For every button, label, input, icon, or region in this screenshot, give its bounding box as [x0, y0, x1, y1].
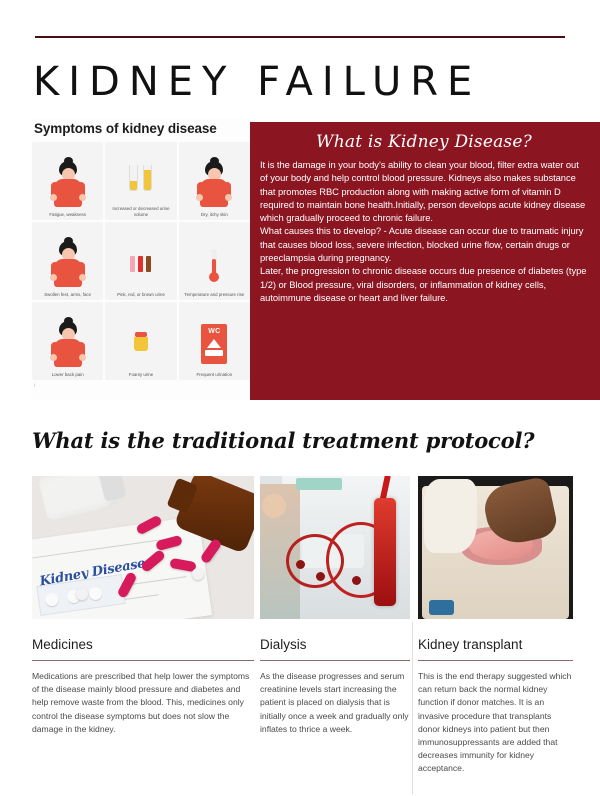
column-rule — [418, 660, 573, 661]
column-rule — [32, 660, 254, 661]
symptom-caption: Fatigue, weakness — [33, 212, 101, 218]
info-paragraph: It is the damage in your body’s ability … — [260, 158, 588, 224]
person-itchy-icon — [179, 156, 250, 212]
symptom-caption: Dry, itchy skin — [180, 212, 248, 218]
wc-sign-icon: WC — [179, 316, 250, 372]
urine-vials-icon — [105, 150, 176, 206]
symptom-caption: Frequent urination — [180, 372, 248, 378]
column-body-text: Medications are prescribed that help low… — [32, 670, 254, 736]
column-title: Medicines — [32, 637, 254, 652]
info-paragraph: Later, the progression to chronic diseas… — [260, 264, 588, 304]
info-paragraph: What causes this to develop? - Acute dis… — [260, 224, 588, 264]
person-backpain-icon — [32, 316, 103, 372]
infographic-footnote: | — [30, 380, 252, 387]
dialysis-photo — [260, 476, 410, 619]
thermometer-icon — [179, 236, 250, 292]
column-body-text: As the disease progresses and serum crea… — [260, 670, 410, 736]
symptom-item: Fatigue, weakness — [32, 142, 103, 220]
person-swollen-icon — [32, 236, 103, 292]
symptom-caption: Temperature and pressure rise — [180, 292, 248, 298]
symptoms-infographic: Symptoms of kidney disease Fatigue, weak… — [30, 118, 252, 400]
column-rule — [260, 660, 410, 661]
top-divider-rule — [35, 36, 565, 38]
medicines-photo: Kidney Disease — [32, 476, 254, 619]
symptom-item: Lower back pain — [32, 302, 103, 380]
transplant-photo — [418, 476, 573, 619]
symptom-caption: Foamy urine — [107, 372, 175, 378]
info-panel-body: It is the damage in your body’s ability … — [260, 158, 588, 304]
symptom-item: Increased or decreased urine volume — [105, 142, 176, 220]
symptoms-title: Symptoms of kidney disease — [30, 118, 252, 142]
symptom-item: Dry, itchy skin — [179, 142, 250, 220]
column-title: Kidney transplant — [418, 637, 573, 652]
symptoms-grid: Fatigue, weakness Increased or decreased… — [30, 142, 252, 380]
symptom-item: Foamy urine — [105, 302, 176, 380]
symptom-caption: Increased or decreased urine volume — [107, 206, 175, 218]
symptom-caption: Lower back pain — [33, 372, 101, 378]
column-title: Dialysis — [260, 637, 410, 652]
symptom-item: WC Frequent urination — [179, 302, 250, 380]
urine-strips-icon — [105, 236, 176, 292]
protocol-section-heading: What is the traditional treatment protoc… — [32, 428, 534, 453]
symptom-item: Pink, red, or brown urine — [105, 222, 176, 300]
symptom-caption: Pink, red, or brown urine — [107, 292, 175, 298]
treatment-column-dialysis: Dialysis As the disease progresses and s… — [260, 476, 410, 736]
info-panel-heading: What is Kidney Disease? — [260, 132, 588, 152]
treatment-columns: Kidney Disease Medicines Medications are… — [0, 476, 600, 796]
kidney-disease-info-panel: What is Kidney Disease? It is the damage… — [250, 122, 600, 400]
column-body-text: This is the end therapy suggested which … — [418, 670, 573, 776]
symptom-caption: Swollen feet, arms, face — [33, 292, 101, 298]
symptom-item: Swollen feet, arms, face — [32, 222, 103, 300]
treatment-column-transplant: Kidney transplant This is the end therap… — [418, 476, 573, 776]
page-title: KIDNEY FAILURE — [33, 58, 481, 106]
person-tired-icon — [32, 156, 103, 212]
treatment-column-medicines: Kidney Disease Medicines Medications are… — [32, 476, 254, 736]
column-vertical-divider — [412, 622, 413, 794]
symptom-item: Temperature and pressure rise — [179, 222, 250, 300]
foam-cup-icon — [105, 316, 176, 372]
